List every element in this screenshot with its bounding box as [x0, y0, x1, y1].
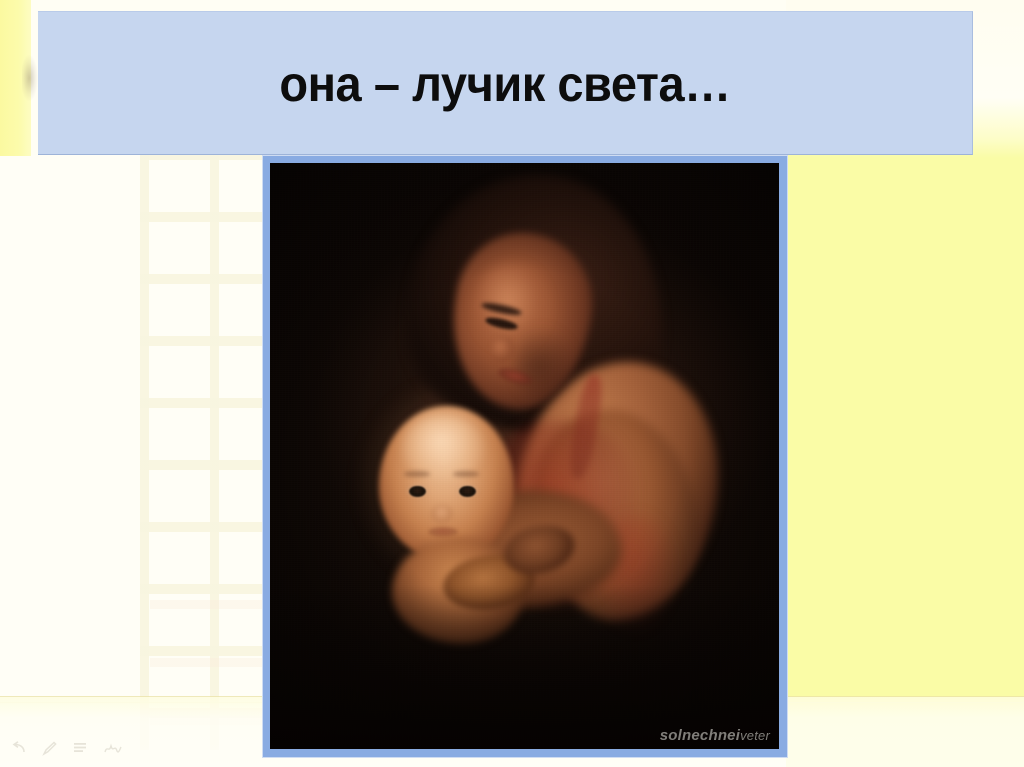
background-smudge-mark — [22, 55, 38, 101]
photo-mother-and-baby: solnechneiveter — [270, 163, 779, 749]
photo-watermark: solnechneiveter — [660, 727, 770, 744]
photo-watermark-primary: solnechnei — [660, 727, 740, 744]
slide-canvas: она – лучик света… — [0, 0, 1024, 767]
page-title: она – лучик света… — [279, 59, 730, 109]
title-banner: она – лучик света… — [38, 11, 973, 155]
photo-bottom-shadow — [270, 163, 779, 749]
ghost-toolbar — [10, 736, 140, 760]
pencil-icon — [42, 741, 57, 756]
list-lines-icon — [73, 741, 88, 755]
undo-arrow-icon — [10, 741, 26, 755]
photo-watermark-secondary: veter — [740, 728, 770, 743]
photo-frame[interactable]: solnechneiveter — [263, 156, 787, 757]
scribble-icon — [104, 741, 122, 755]
